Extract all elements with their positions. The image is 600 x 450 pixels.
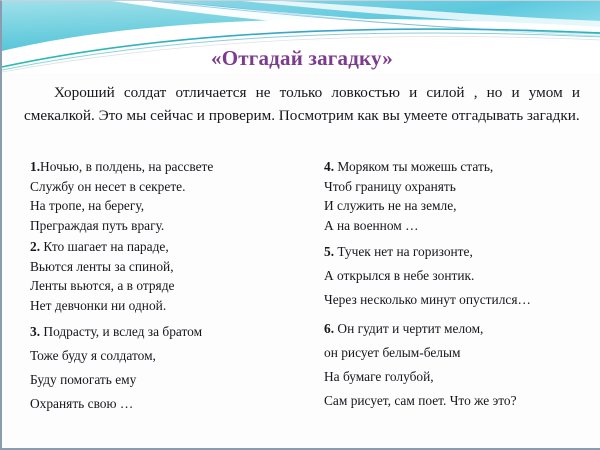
riddle-line: 3. Подрасту, и вслед за братом [30,320,316,344]
riddle-number: 6. [324,321,334,336]
riddle-line: Преграждая путь врагу. [30,216,316,236]
riddle-line: 4. Моряком ты можешь стать, [324,157,592,177]
riddle-block: 1.Ночью, в полдень, на рассветеСлужбу он… [30,157,316,235]
riddle-line-text: Моряком ты можешь стать, [334,159,493,174]
slide-title: «Отгадай загадку» [2,46,600,71]
riddle-number: 1. [30,159,40,174]
riddle-line: 5. Тучек нет на горизонте, [324,240,592,264]
riddle-block: 5. Тучек нет на горизонте,А открылся в н… [324,240,592,312]
riddle-line: Через несколько минут опустился… [324,288,592,312]
slide-canvas: «Отгадай загадку» Хороший солдат отличае… [0,0,600,450]
riddle-line: А на военном … [324,216,592,236]
riddle-line-text: Он гудит и чертит мелом, [334,321,483,336]
riddles-container: 1.Ночью, в полдень, на рассветеСлужбу он… [2,157,600,437]
riddle-block: 2. Кто шагает на параде,Вьются ленты за … [30,237,316,315]
riddle-line: 6. Он гудит и чертит мелом, [324,317,592,341]
riddle-line: Сам рисует, сам поет. Что же это? [324,389,592,413]
riddle-number: 5. [324,244,334,259]
riddle-line: И служить не на земле, [324,196,592,216]
riddle-line-text: Кто шагает на параде, [40,239,169,254]
riddle-line-text: Тучек нет на горизонте, [334,244,473,259]
riddle-number: 4. [324,159,334,174]
riddle-line: Ленты вьются, а в отряде [30,276,316,296]
riddle-line: На тропе, на берегу, [30,196,316,216]
riddle-line: Охранять свою … [30,392,316,416]
riddle-line: Службу он несет в секрете. [30,177,316,197]
riddle-line-text: Ночью, в полдень, на рассвете [40,159,213,174]
riddle-line: На бумаге голубой, [324,365,592,389]
riddle-number: 2. [30,239,40,254]
riddle-line: А открылся в небе зонтик. [324,264,592,288]
riddle-number: 3. [30,324,40,339]
riddle-line: Чтоб границу охранять [324,177,592,197]
riddle-line: 2. Кто шагает на параде, [30,237,316,257]
riddle-block: 4. Моряком ты можешь стать,Чтоб границу … [324,157,592,235]
riddle-line: Буду помогать ему [30,368,316,392]
riddle-line: Нет девчонки ни одной. [30,296,316,316]
riddle-line: он рисует белым-белым [324,341,592,365]
intro-paragraph: Хороший солдат отличается не только ловк… [24,81,580,127]
riddle-line: Тоже буду я солдатом, [30,344,316,368]
riddle-line-text: Подрасту, и вслед за братом [40,324,202,339]
riddles-column-left: 1.Ночью, в полдень, на рассветеСлужбу он… [30,157,316,416]
riddles-column-right: 4. Моряком ты можешь стать,Чтоб границу … [324,157,592,413]
riddle-line: 1.Ночью, в полдень, на рассвете [30,157,316,177]
riddle-block: 3. Подрасту, и вслед за братомТоже буду … [30,320,316,416]
riddle-block: 6. Он гудит и чертит мелом,он рисует бел… [324,317,592,413]
riddle-line: Вьются ленты за спиной, [30,257,316,277]
